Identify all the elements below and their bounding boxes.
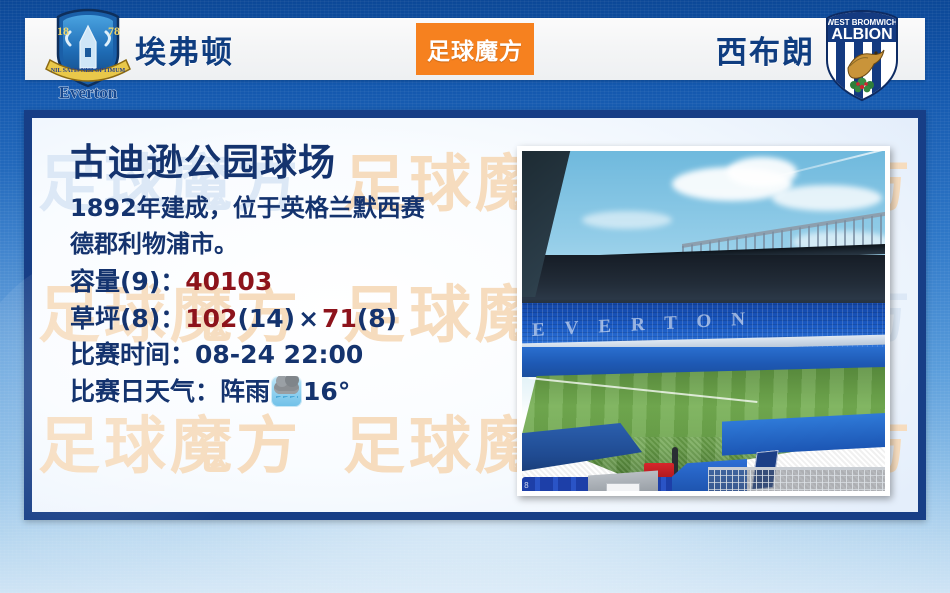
svg-text:NIL SATIS NISI OPTIMUM: NIL SATIS NISI OPTIMUM [51,68,126,74]
notice-sign [606,483,640,491]
home-team-name: 埃弗顿 [135,27,234,72]
match-header-bar: 埃弗顿 足球魔方 西布朗 [25,18,925,80]
cloud [582,211,672,229]
stadium-description-line1: 1892年建成，位于英格兰默西赛 [70,191,500,226]
stadium-description-line2: 德郡利物浦市。 [70,227,500,262]
site-logo-text: 足球魔方 [427,32,523,66]
pitch-length: 102 [185,304,237,333]
match-time-value: 08-24 22:00 [195,340,363,369]
stadium-info-card: 足球魔方 足球魔方 足球魔方 足球魔方 足球魔方 足球魔方 足球魔方 足球魔方 … [24,110,926,520]
svg-text:Everton: Everton [59,83,118,102]
photo-corner-number: 8 [524,481,529,490]
match-time-label: 比赛时间： [70,340,195,369]
everton-crest-icon: 18 78 NIL SATIS NISI OPTIMUM Everton [36,2,140,102]
pitch-row: 草坪(8)：102(14)×71(8) [70,301,500,338]
stadium-title: 古迪逊公园球场 [70,142,500,185]
weather-row: 比赛日天气：阵雨16° [70,374,500,411]
pitch-width-rating: (8) [357,304,397,333]
svg-text:78: 78 [108,24,120,38]
card-inner: 足球魔方 足球魔方 足球魔方 足球魔方 足球魔方 足球魔方 足球魔方 足球魔方 … [32,118,918,512]
site-logo-badge[interactable]: 足球魔方 [416,23,534,75]
match-time-row: 比赛时间：08-24 22:00 [70,337,500,374]
stadium-photo-frame[interactable]: EVERTON 8 [517,146,890,496]
away-team-name: 西布朗 [716,27,815,72]
stadium-photo: EVERTON 8 [522,151,885,491]
west-bromwich-albion-crest-icon: WEST BROMWICH ALBION [810,6,914,106]
pitch-multiply-sign: × [295,304,322,333]
pitch-width: 71 [322,304,357,333]
weather-label: 比赛日天气： [70,377,220,406]
svg-text:18: 18 [57,24,69,38]
capacity-row: 容量(9)：40103 [70,264,500,301]
capacity-value: 40103 [185,267,272,296]
shower-rain-icon [271,376,302,407]
page-background: 埃弗顿 足球魔方 西布朗 18 78 NIL SATIS NISI OP [0,0,950,593]
cloud [772,185,882,211]
weather-condition: 阵雨 [220,377,270,406]
pitch-length-rating: (14) [237,304,295,333]
capacity-label: 容量(9)： [70,267,185,296]
svg-text:ALBION: ALBION [831,26,892,43]
stadium-info-text: 古迪逊公园球场 1892年建成，位于英格兰默西赛 德郡利物浦市。 容量(9)：4… [70,142,500,410]
pitch-label: 草坪(8)： [70,304,185,333]
mesh-fence [708,467,885,491]
weather-temperature: 16° [303,377,350,406]
